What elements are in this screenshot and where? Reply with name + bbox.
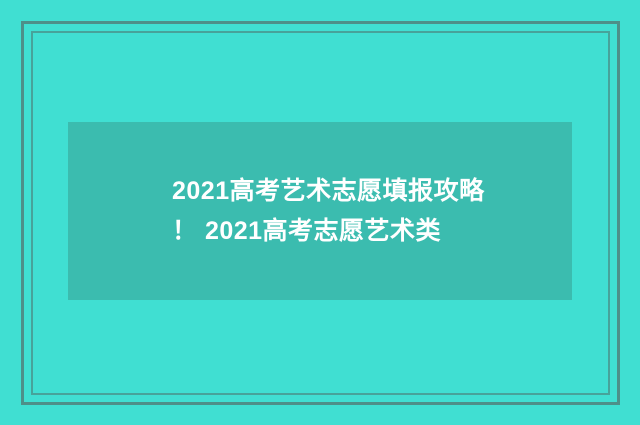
title-panel: 2021高考艺术志愿填报攻略 ！ 2021高考志愿艺术类 <box>68 122 572 300</box>
banner-canvas: 2021高考艺术志愿填报攻略 ！ 2021高考志愿艺术类 <box>0 0 640 425</box>
title-line-2: ！ 2021高考志愿艺术类 <box>172 211 572 251</box>
title-line-1: 2021高考艺术志愿填报攻略 <box>172 171 572 211</box>
